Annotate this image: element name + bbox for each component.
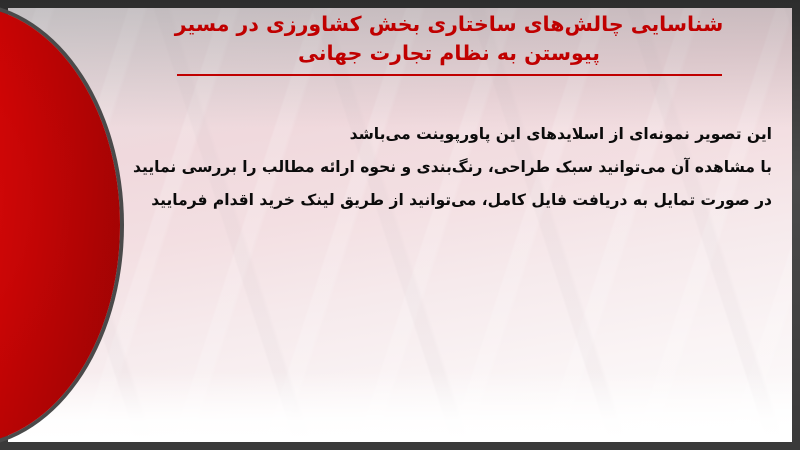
slide-title-line-2: پیوستن به نظام تجارت جهانی (120, 39, 778, 68)
body-line-2: با مشاهده آن می‌توانید سبک طراحی، رنگ‌بن… (120, 151, 772, 184)
slide-content: شناسایی چالش‌های ساختاری بخش کشاورزی در … (120, 0, 778, 450)
title-underline-rule (177, 74, 722, 76)
body-line-3: در صورت تمایل به دریافت فایل کامل، می‌تو… (120, 184, 772, 217)
body-line-1: این تصویر نمونه‌ای از اسلایدهای این پاور… (120, 118, 772, 151)
slide-body-text: این تصویر نمونه‌ای از اسلایدهای این پاور… (120, 118, 772, 217)
slide-title: شناسایی چالش‌های ساختاری بخش کشاورزی در … (120, 10, 778, 76)
presentation-slide: شناسایی چالش‌های ساختاری بخش کشاورزی در … (0, 0, 800, 450)
slide-title-line-1: شناسایی چالش‌های ساختاری بخش کشاورزی در … (120, 10, 778, 39)
